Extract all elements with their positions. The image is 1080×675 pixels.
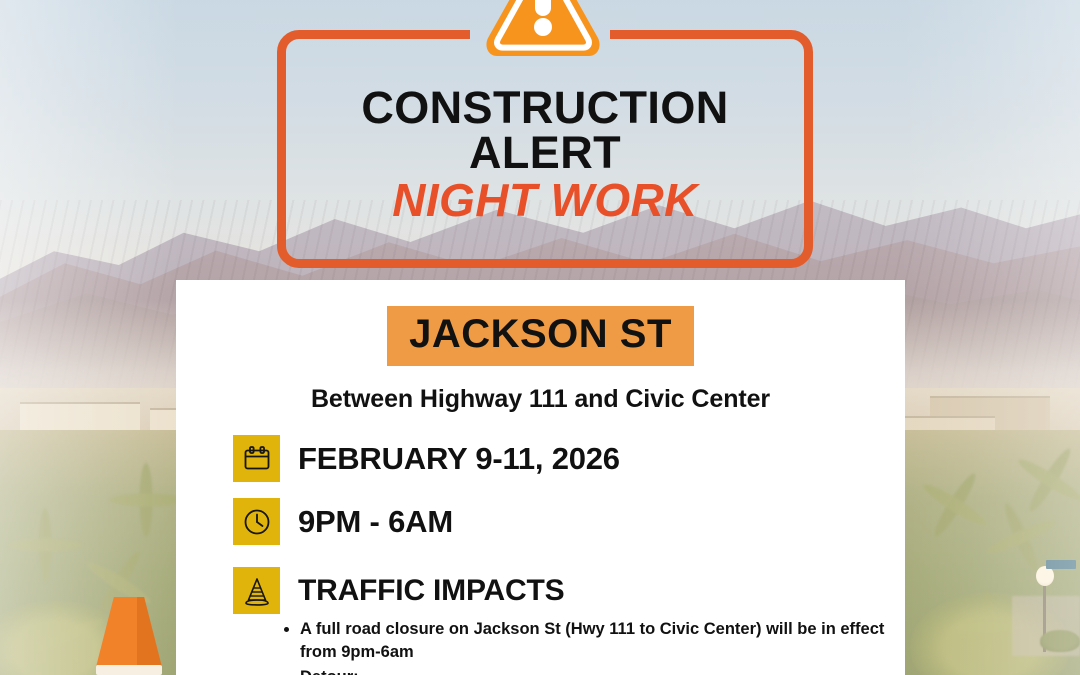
- street-subtitle: Between Highway 111 and Civic Center: [176, 385, 905, 414]
- detour-label: Detour:: [300, 668, 359, 675]
- traffic-impacts-row: TRAFFIC IMPACTS: [176, 567, 905, 614]
- traffic-impacts-label: TRAFFIC IMPACTS: [298, 576, 564, 606]
- header-line-alert: ALERT: [277, 131, 813, 176]
- right-white-wash: [900, 0, 1080, 675]
- impacts-list: A full road closure on Jackson St (Hwy 1…: [176, 618, 905, 675]
- date-row: FEBRUARY 9-11, 2026: [176, 435, 905, 482]
- cone-body: [96, 597, 162, 667]
- date-label: FEBRUARY 9-11, 2026: [298, 443, 620, 474]
- time-label: 9PM - 6AM: [298, 506, 453, 537]
- foreground-traffic-cone-graphic: [96, 597, 162, 675]
- header-text-block: CONSTRUCTION ALERT NIGHT WORK: [277, 86, 813, 223]
- header-line-construction: CONSTRUCTION: [277, 86, 813, 131]
- cone-base: [96, 665, 162, 675]
- street-title-wrapper: JACKSON ST: [176, 280, 905, 366]
- time-row: 9PM - 6AM: [176, 498, 905, 545]
- street-title-highlight: JACKSON ST: [387, 306, 694, 366]
- calendar-icon: [233, 435, 280, 482]
- left-white-wash: [0, 0, 180, 675]
- clock-icon: [233, 498, 280, 545]
- traffic-cone-icon: [233, 567, 280, 614]
- impact-item-detour: Detour: NB Jackson will turn left on Hwy…: [300, 666, 891, 675]
- impact-item: A full road closure on Jackson St (Hwy 1…: [300, 618, 891, 665]
- warning-triangle-icon: [484, 0, 602, 66]
- header-line-night-work: NIGHT WORK: [277, 177, 813, 223]
- content-panel: JACKSON ST Between Highway 111 and Civic…: [176, 280, 905, 675]
